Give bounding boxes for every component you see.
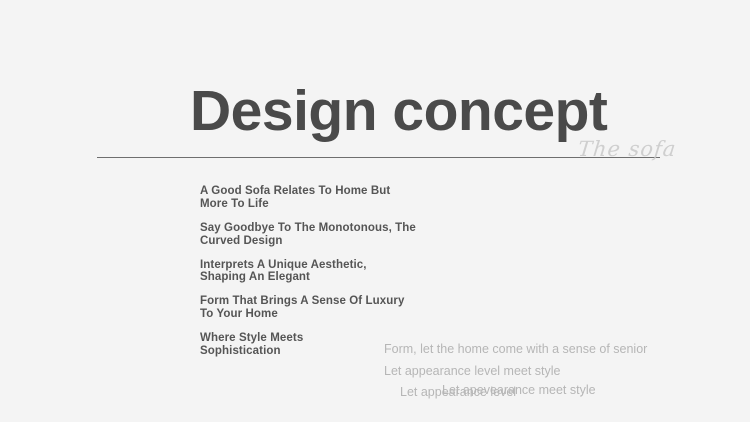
list-item: Form That Brings A Sense Of Luxury To Yo…	[200, 295, 470, 321]
title-divider	[97, 157, 660, 158]
feature-line-2: Shaping An Elegant	[200, 271, 470, 284]
feature-line-1: Form That Brings A Sense Of Luxury	[200, 295, 470, 308]
feature-line-1: Interprets A Unique Aesthetic,	[200, 259, 470, 272]
caption-block: Form, let the home come with a sense of …	[384, 342, 684, 412]
list-item: A Good Sofa Relates To Home But More To …	[200, 185, 470, 211]
caption-line-3-overlap-b: Let apevearance meet style	[442, 383, 596, 397]
feature-line-1: Say Goodbye To The Monotonous, The	[200, 222, 470, 235]
feature-list: A Good Sofa Relates To Home But More To …	[200, 185, 470, 358]
page-title: Design concept	[190, 83, 607, 140]
feature-line-2: More To Life	[200, 198, 470, 211]
script-signature: The sofa	[577, 138, 674, 161]
feature-line-2: Curved Design	[200, 235, 470, 248]
feature-line-2: To Your Home	[200, 308, 470, 321]
feature-line-1: A Good Sofa Relates To Home But	[200, 185, 470, 198]
caption-line-1: Form, let the home come with a sense of …	[384, 342, 647, 356]
caption-line-2: Let appearance level meet style	[384, 364, 561, 378]
slide-canvas: Design concept The sofa A Good Sofa Rela…	[0, 0, 750, 422]
list-item: Interprets A Unique Aesthetic, Shaping A…	[200, 259, 470, 285]
list-item: Say Goodbye To The Monotonous, The Curve…	[200, 222, 470, 248]
